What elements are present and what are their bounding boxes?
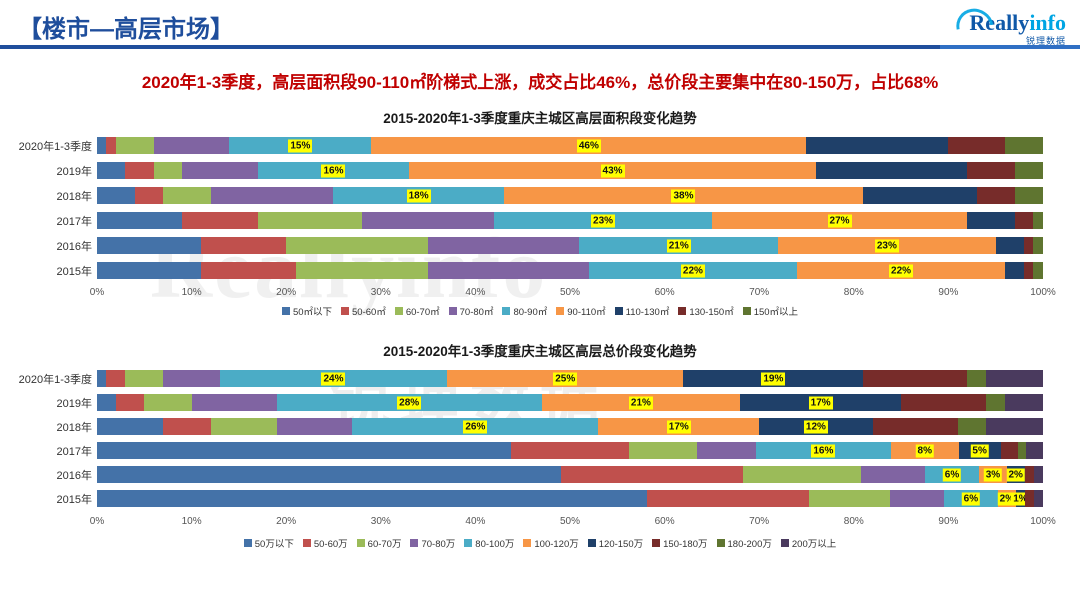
bar-segment [125,162,153,179]
axis-tick-label: 60% [655,516,675,527]
bar-segment [97,394,116,411]
chart-row: 2019年28%21%17% [0,392,1080,416]
legend-label: 80-90㎡ [513,304,547,318]
bar-segment [125,370,163,387]
bar-segment [816,162,967,179]
legend-label: 110-130㎡ [626,304,670,318]
data-label: 8% [916,444,934,457]
stacked-bar: 15%46% [97,137,1043,154]
data-label: 15% [288,139,312,152]
bar-segment [97,237,201,254]
bar-segment [163,418,210,435]
legend-label: 50万以下 [255,536,294,550]
legend-item[interactable]: 80-90㎡ [502,304,547,318]
bar-segment [106,137,115,154]
bar-segment [1033,237,1042,254]
legend-label: 200万以上 [792,536,836,550]
bar-segment [428,237,579,254]
category-label: 2020年1-3季度 [0,368,92,392]
bar-segment: 19% [683,370,863,387]
bar-segment [1033,212,1042,229]
bar-segment: 2% [1007,466,1025,483]
bar-segment [154,162,182,179]
bar-segment: 24% [220,370,447,387]
bar-segment [97,212,182,229]
x-axis: 0%10%20%30%40%50%60%70%80%90%100% [0,287,1080,303]
category-label: 2019年 [0,392,92,416]
data-label: 26% [463,420,487,433]
data-label: 27% [828,214,852,227]
stacked-bar: 18%38% [97,187,1043,204]
legend-item[interactable]: 150-180万 [652,536,707,550]
data-label: 17% [809,396,833,409]
bar-segment [986,418,1043,435]
bar-segment [743,466,861,483]
data-label: 17% [667,420,691,433]
data-label: 23% [875,239,899,252]
chart-area-price-segments: 2015-2020年1-3季度重庆主城区高层总价段变化趋势 2020年1-3季度… [0,340,1080,550]
bar-segment [201,262,296,279]
axis-tick-label: 70% [749,287,769,298]
legend-item[interactable]: 120-150万 [588,536,643,550]
bar-segment: 8% [891,442,959,459]
legend-item[interactable]: 50-60㎡ [341,304,386,318]
axis-tick-label: 20% [276,287,296,298]
stacked-bar: 22%22% [97,262,1043,279]
bar-segment [1005,137,1043,154]
bar-segment: 3% [979,466,1006,483]
bar-segment: 38% [504,187,863,204]
legend-label: 50㎡以下 [293,304,332,318]
legend-item[interactable]: 150㎡以上 [743,304,798,318]
legend-swatch-icon [395,307,403,315]
bar-segment [1034,490,1043,507]
bar-segment: 46% [371,137,806,154]
axis-tick-label: 100% [1030,516,1056,527]
bar-segment [863,187,977,204]
bar-segment: 15% [229,137,371,154]
axis-tick-label: 40% [465,287,485,298]
legend-swatch-icon [357,539,365,547]
bar-segment [697,442,756,459]
category-label: 2016年 [0,235,92,260]
data-label: 21% [629,396,653,409]
axis-tick-label: 90% [938,516,958,527]
data-label: 28% [397,396,421,409]
axis-tick-label: 80% [844,287,864,298]
legend-item[interactable]: 180-200万 [717,536,772,550]
category-label: 2019年 [0,160,92,185]
bar-segment [163,187,210,204]
bar-segment [1005,394,1043,411]
data-label: 16% [321,164,345,177]
legend-swatch-icon [341,307,349,315]
bar-segment [873,418,958,435]
bar-segment: 16% [258,162,409,179]
category-label: 2018年 [0,416,92,440]
bar-segment [1033,262,1042,279]
bar-segment [97,370,106,387]
x-axis: 0%10%20%30%40%50%60%70%80%90%100% [0,516,1080,532]
bar-segment [958,418,986,435]
legend-item[interactable]: 70-80万 [410,536,455,550]
chart-row: 2017年23%27% [0,210,1080,235]
bar-segment [901,394,986,411]
legend-item[interactable]: 100-120万 [523,536,578,550]
bar-segment [863,370,967,387]
bar-segment [144,394,191,411]
axis-tick-label: 40% [465,516,485,527]
bar-segment [1015,212,1034,229]
bar-segment [647,490,809,507]
data-label: 38% [671,189,695,202]
brand-logo: Reallyinfo 锐理数据 [914,12,1066,54]
data-label: 46% [577,139,601,152]
chart-row: 2018年26%17%12% [0,416,1080,440]
bar-segment: 16% [756,442,891,459]
legend-item[interactable]: 50㎡以下 [282,304,332,318]
stacked-bar: 24%25%19% [97,370,1043,387]
bar-segment: 6% [944,490,998,507]
legend-item[interactable]: 200万以上 [781,536,836,550]
bar-segment: 1% [1016,490,1025,507]
bar-segment [861,466,925,483]
bar-segment [996,237,1024,254]
axis-tick-label: 30% [371,287,391,298]
bar-segment [182,212,258,229]
data-label: 12% [804,420,828,433]
axis-tick-label: 100% [1030,287,1056,298]
legend-swatch-icon [523,539,531,547]
chart-title: 2015-2020年1-3季度重庆主城区高层面积段变化趋势 [0,107,1080,127]
bar-segment: 22% [589,262,797,279]
legend-swatch-icon [678,307,686,315]
legend-label: 100-120万 [534,536,578,550]
legend-item[interactable]: 70-80㎡ [449,304,494,318]
bar-segment [967,212,1014,229]
data-label: 3% [984,468,1002,481]
category-label: 2016年 [0,464,92,488]
stacked-bar: 6%2%1% [97,490,1043,507]
legend-label: 150㎡以上 [754,304,798,318]
stacked-bar: 28%21%17% [97,394,1043,411]
plot-area: 2020年1-3季度15%46%2019年16%43%2018年18%38%20… [0,135,1080,287]
axis-tick-label: 10% [182,516,202,527]
axis-tick-label: 0% [90,516,104,527]
bar-segment [890,490,944,507]
bar-segment [986,370,1043,387]
data-label: 22% [889,264,913,277]
bar-segment: 23% [778,237,996,254]
logo-wordmark-info: info [1029,10,1066,35]
legend-item[interactable]: 80-100万 [464,536,514,550]
chart-legend: 50㎡以下50-60㎡60-70㎡70-80㎡80-90㎡90-110㎡110-… [0,304,1080,318]
bar-segment: 21% [542,394,741,411]
bar-segment [97,466,561,483]
legend-item[interactable]: 130-150㎡ [678,304,733,318]
stacked-bar: 26%17%12% [97,418,1043,435]
bar-segment [1025,490,1034,507]
bar-segment [182,162,258,179]
chart-row: 2015年22%22% [0,260,1080,285]
bar-segment [192,394,277,411]
legend-swatch-icon [244,539,252,547]
legend-swatch-icon [652,539,660,547]
stacked-bar: 21%23% [97,237,1043,254]
axis-tick-label: 50% [560,516,580,527]
legend-swatch-icon [556,307,564,315]
bar-segment: 17% [740,394,901,411]
bar-segment: 17% [598,418,759,435]
legend-label: 130-150㎡ [689,304,733,318]
legend-item[interactable]: 50-60万 [303,536,348,550]
legend-swatch-icon [615,307,623,315]
data-label: 24% [321,372,345,385]
category-label: 2020年1-3季度 [0,135,92,160]
bar-segment [277,418,353,435]
axis-tick-label: 80% [844,516,864,527]
chart-row: 2018年18%38% [0,185,1080,210]
axis-tick-label: 90% [938,287,958,298]
axis-tick-label: 30% [371,516,391,527]
legend-label: 60-70㎡ [406,304,440,318]
category-label: 2018年 [0,185,92,210]
bar-segment [1001,442,1018,459]
chart-row: 2016年21%23% [0,235,1080,260]
legend-item[interactable]: 60-70万 [357,536,402,550]
bar-segment [97,490,647,507]
bar-segment [116,137,154,154]
bar-segment [201,237,286,254]
legend-label: 120-150万 [599,536,643,550]
legend-swatch-icon [588,539,596,547]
stacked-bar: 16%43% [97,162,1043,179]
bar-segment: 25% [447,370,684,387]
plot-area: 2020年1-3季度24%25%19%2019年28%21%17%2018年26… [0,368,1080,516]
bar-segment [163,370,220,387]
bar-segment [286,237,428,254]
bar-segment [967,162,1014,179]
bar-segment: 43% [409,162,816,179]
bar-segment [1015,162,1043,179]
data-label: 18% [407,189,431,202]
legend-label: 90-110㎡ [567,304,605,318]
bar-segment [986,394,1005,411]
bar-segment [1005,262,1024,279]
bar-segment [629,442,697,459]
axis-tick-label: 10% [182,287,202,298]
bar-segment [97,262,201,279]
bar-segment [97,187,135,204]
bar-segment [1025,466,1034,483]
data-label: 23% [591,214,615,227]
bar-segment [1034,466,1043,483]
legend-label: 80-100万 [475,536,514,550]
bar-segment [967,370,986,387]
bar-segment [97,162,125,179]
legend-label: 180-200万 [728,536,772,550]
stacked-bar: 6%3%2% [97,466,1043,483]
legend-item[interactable]: 90-110㎡ [556,304,605,318]
legend-swatch-icon [502,307,510,315]
bar-segment: 5% [959,442,1001,459]
legend-swatch-icon [282,307,290,315]
category-label: 2015年 [0,488,92,512]
category-label: 2015年 [0,260,92,285]
bar-segment [154,137,230,154]
bar-segment [362,212,494,229]
axis-tick-label: 50% [560,287,580,298]
bar-segment [211,187,334,204]
bar-segment [1026,442,1043,459]
bar-segment [258,212,362,229]
bar-segment [511,442,629,459]
bar-segment: 18% [333,187,503,204]
stacked-bar: 23%27% [97,212,1043,229]
bar-segment [806,137,948,154]
legend-swatch-icon [464,539,472,547]
legend-swatch-icon [303,539,311,547]
bar-segment: 26% [352,418,598,435]
headline-summary: 2020年1-3季度，高层面积段90-110㎡阶梯式上涨，成交占比46%，总价段… [0,68,1080,93]
data-label: 6% [962,492,980,505]
legend-item[interactable]: 110-130㎡ [615,304,670,318]
stacked-bar: 16%8%5% [97,442,1043,459]
category-label: 2017年 [0,210,92,235]
bar-segment [428,262,589,279]
bar-segment [211,418,277,435]
bar-segment [561,466,743,483]
legend-swatch-icon [410,539,418,547]
data-label: 25% [553,372,577,385]
legend-label: 150-180万 [663,536,707,550]
data-label: 5% [970,444,988,457]
bar-segment [809,490,890,507]
legend-swatch-icon [717,539,725,547]
data-label: 19% [761,372,785,385]
bar-segment [97,418,163,435]
legend-label: 50-60㎡ [352,304,386,318]
bar-segment [296,262,428,279]
bar-segment [116,394,144,411]
chart-title: 2015-2020年1-3季度重庆主城区高层总价段变化趋势 [0,340,1080,360]
legend-swatch-icon [743,307,751,315]
chart-area-size-segments: 2015-2020年1-3季度重庆主城区高层面积段变化趋势 2020年1-3季度… [0,107,1080,318]
bar-segment [948,137,1005,154]
data-label: 43% [601,164,625,177]
page-header: 【楼市—高层市场】 Reallyinfo 锐理数据 [0,0,1080,52]
legend-swatch-icon [781,539,789,547]
bar-segment: 6% [925,466,980,483]
bar-segment: 23% [494,212,712,229]
legend-swatch-icon [449,307,457,315]
data-label: 6% [943,468,961,481]
bar-segment [97,442,511,459]
data-label: 22% [681,264,705,277]
bar-segment [135,187,163,204]
bar-segment [106,370,125,387]
chart-row: 2019年16%43% [0,160,1080,185]
bar-segment [1018,442,1026,459]
bar-segment: 21% [579,237,778,254]
bar-segment [97,137,106,154]
page-title: 【楼市—高层市场】 [18,9,234,44]
chart-legend: 50万以下50-60万60-70万70-80万80-100万100-120万12… [0,536,1080,550]
chart-row: 2016年6%3%2% [0,464,1080,488]
category-label: 2017年 [0,440,92,464]
data-label: 21% [667,239,691,252]
legend-label: 50-60万 [314,536,348,550]
data-label: 16% [811,444,835,457]
chart-row: 2020年1-3季度15%46% [0,135,1080,160]
legend-label: 60-70万 [368,536,402,550]
chart-row: 2020年1-3季度24%25%19% [0,368,1080,392]
axis-tick-label: 70% [749,516,769,527]
axis-tick-label: 60% [655,287,675,298]
bar-segment [1015,187,1043,204]
bar-segment [977,187,1015,204]
axis-tick-label: 0% [90,287,104,298]
bar-segment [1024,237,1033,254]
legend-label: 70-80万 [421,536,455,550]
bar-segment: 27% [712,212,967,229]
bar-segment: 22% [797,262,1005,279]
data-label: 2% [1006,468,1024,481]
legend-label: 70-80㎡ [460,304,494,318]
chart-row: 2017年16%8%5% [0,440,1080,464]
bar-segment [1024,262,1033,279]
chart-row: 2015年6%2%1% [0,488,1080,512]
legend-item[interactable]: 50万以下 [244,536,294,550]
legend-item[interactable]: 60-70㎡ [395,304,440,318]
bar-segment: 28% [277,394,542,411]
bar-segment: 12% [759,418,873,435]
axis-tick-label: 20% [276,516,296,527]
